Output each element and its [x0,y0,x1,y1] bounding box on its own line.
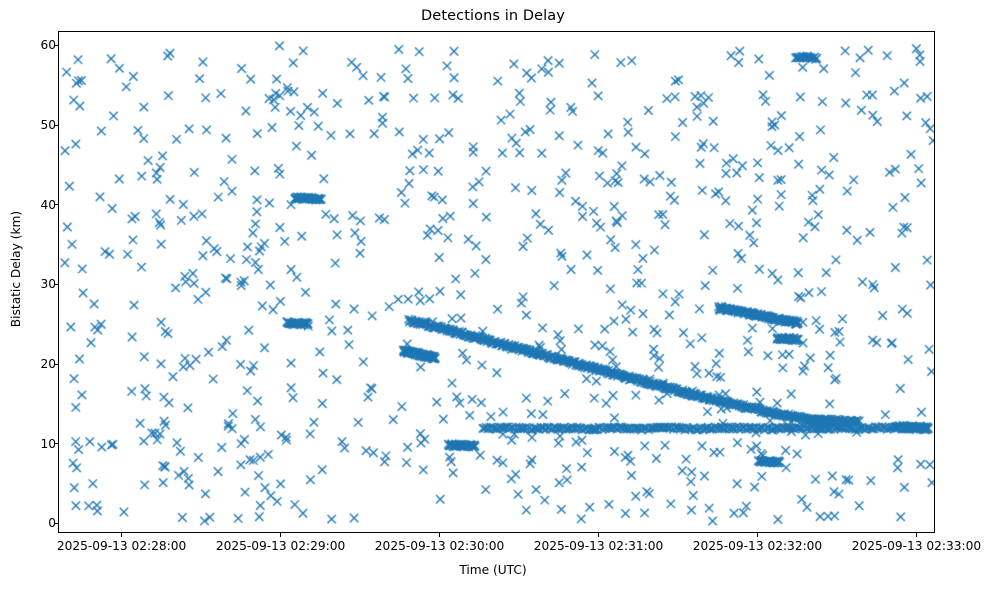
x-tick-mark [280,533,281,537]
x-tick-mark [121,533,122,537]
chart-title: Detections in Delay [0,8,986,24]
x-axis-label: Time (UTC) [0,563,986,577]
plot-area [58,31,935,533]
y-tick-label: 10 [40,437,56,451]
y-tick-label: 40 [40,198,56,212]
x-tick-label: 2025-09-13 02:28:00 [57,539,186,553]
x-tick-label: 2025-09-13 02:33:00 [852,539,981,553]
x-tick-label: 2025-09-13 02:30:00 [375,539,504,553]
x-tick-mark [439,533,440,537]
y-tick-label: 60 [40,38,56,52]
x-tick-mark [757,533,758,537]
y-tick-label: 20 [40,357,56,371]
y-tick-label: 30 [40,277,56,291]
x-tick-label: 2025-09-13 02:29:00 [216,539,345,553]
x-tick-mark [916,533,917,537]
x-tick-mark [598,533,599,537]
y-axis-label: Bistatic Delay (km) [9,9,23,529]
y-tick-label: 50 [40,118,56,132]
x-tick-label: 2025-09-13 02:31:00 [534,539,663,553]
y-tick-label: 0 [48,516,56,530]
x-tick-label: 2025-09-13 02:32:00 [693,539,822,553]
scatter-plot-canvas [59,32,935,533]
matplotlib-figure: Detections in Delay 0102030405060 2025-0… [0,0,986,590]
